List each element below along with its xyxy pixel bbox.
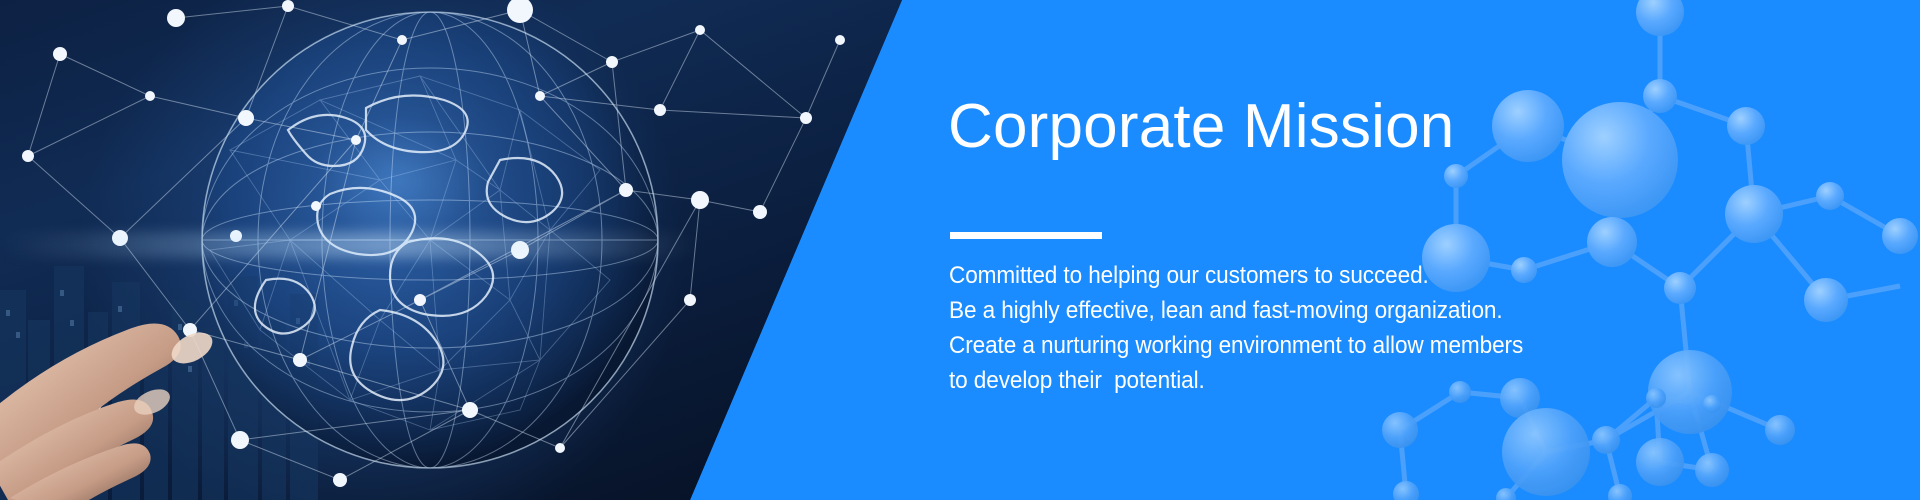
mission-text-block: Corporate Mission Committed to helping o… bbox=[948, 0, 1708, 500]
light-streak bbox=[0, 232, 700, 258]
title-underline-rule bbox=[950, 232, 1102, 239]
mission-statement-list: Committed to helping our customers to su… bbox=[949, 258, 1560, 398]
mission-line: Be a highly effective, lean and fast-mov… bbox=[949, 293, 1523, 328]
mission-line: Committed to helping our customers to su… bbox=[949, 258, 1523, 293]
page-title: Corporate Mission bbox=[948, 96, 1454, 158]
hand-illustration-icon bbox=[0, 270, 300, 500]
mission-line: Create a nurturing working environment t… bbox=[949, 328, 1523, 363]
mission-line: to develop their potential. bbox=[949, 363, 1523, 398]
corporate-mission-banner: Corporate Mission Committed to helping o… bbox=[0, 0, 1920, 500]
